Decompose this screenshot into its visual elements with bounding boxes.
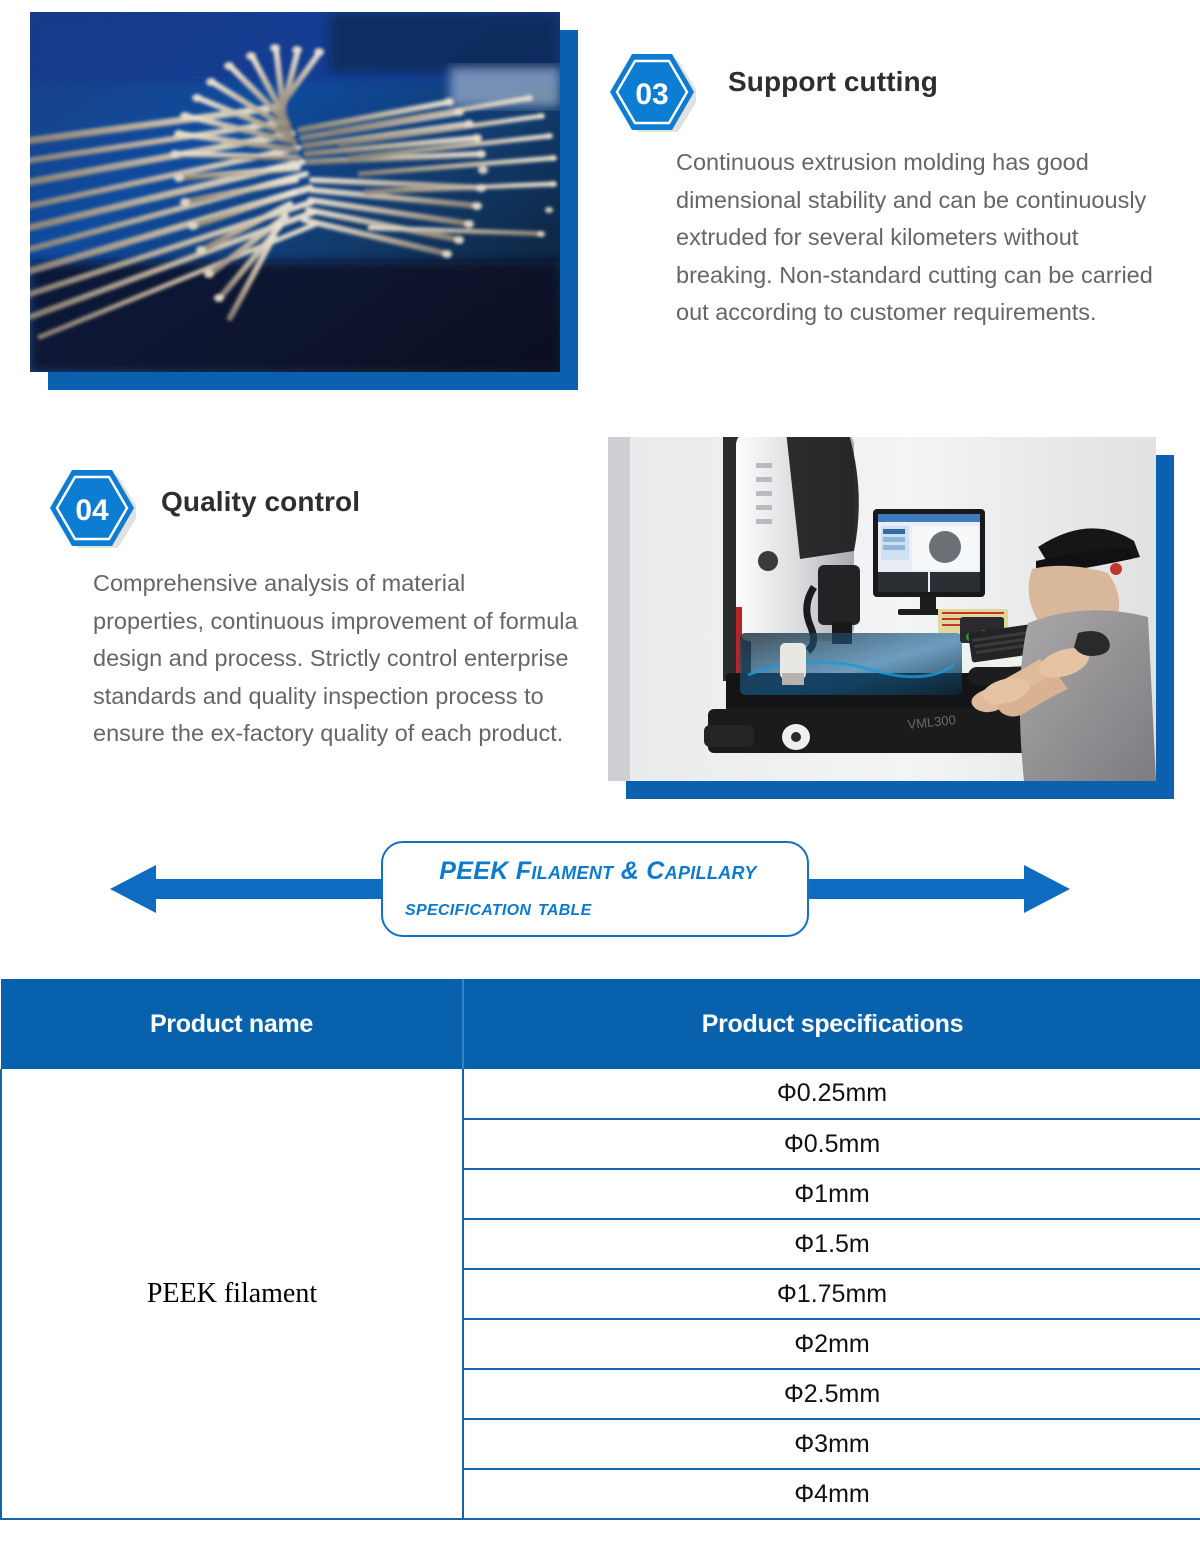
specification-table: Product name Product specifications PEEK… [0,979,1200,1520]
hexagon-badge-icon: 04 [48,468,136,548]
product-name-cell: PEEK filament [1,1069,463,1519]
filament-photo [30,12,560,372]
banner-title-line1: PEEK Filament & Capillary [433,853,756,889]
spec-cell: Φ1mm [463,1169,1200,1219]
spec-cell: Φ0.25mm [463,1069,1200,1119]
infographic-page: 03 Support cutting Continuous extrusion … [0,0,1200,1547]
table-header-row: Product name Product specifications [1,979,1200,1069]
column-header-product-name: Product name [1,979,463,1069]
step-title: Support cutting [728,66,938,98]
hexagon-badge-number: 04 [75,494,109,527]
hexagon-badge-number: 03 [635,78,668,111]
quality-control-photo-container: VML300 [608,437,1156,781]
step-body: Comprehensive analysis of material prope… [93,565,581,753]
spec-cell: Φ1.75mm [463,1269,1200,1319]
spec-cell: Φ3mm [463,1419,1200,1469]
spec-cell: Φ0.5mm [463,1119,1200,1169]
banner-title-line2: specification table [383,889,592,925]
section-divider-banner: PEEK Filament & Capillary specification … [0,838,1200,940]
table-header: Product name Product specifications [1,979,1200,1069]
banner-title-box: PEEK Filament & Capillary specification … [381,841,809,937]
filament-photo-container [30,12,560,372]
spec-cell: Φ2mm [463,1319,1200,1369]
step-title: Quality control [161,486,360,518]
spec-cell: Φ2.5mm [463,1369,1200,1419]
step-03: 03 Support cutting Continuous extrusion … [608,52,1188,412]
hexagon-badge-icon: 03 [608,52,696,132]
step-body: Continuous extrusion molding has good di… [676,144,1176,332]
spec-cell: Φ4mm [463,1469,1200,1519]
table-body: PEEK filament Φ0.25mm Φ0.5mm Φ1mm Φ1.5m … [1,1069,1200,1519]
spec-cell: Φ1.5m [463,1219,1200,1269]
step-04: 04 Quality control Comprehensive analysi… [48,468,608,828]
table-row: PEEK filament Φ0.25mm [1,1069,1200,1119]
quality-control-photo: VML300 [608,437,1156,781]
column-header-product-specifications: Product specifications [463,979,1200,1069]
